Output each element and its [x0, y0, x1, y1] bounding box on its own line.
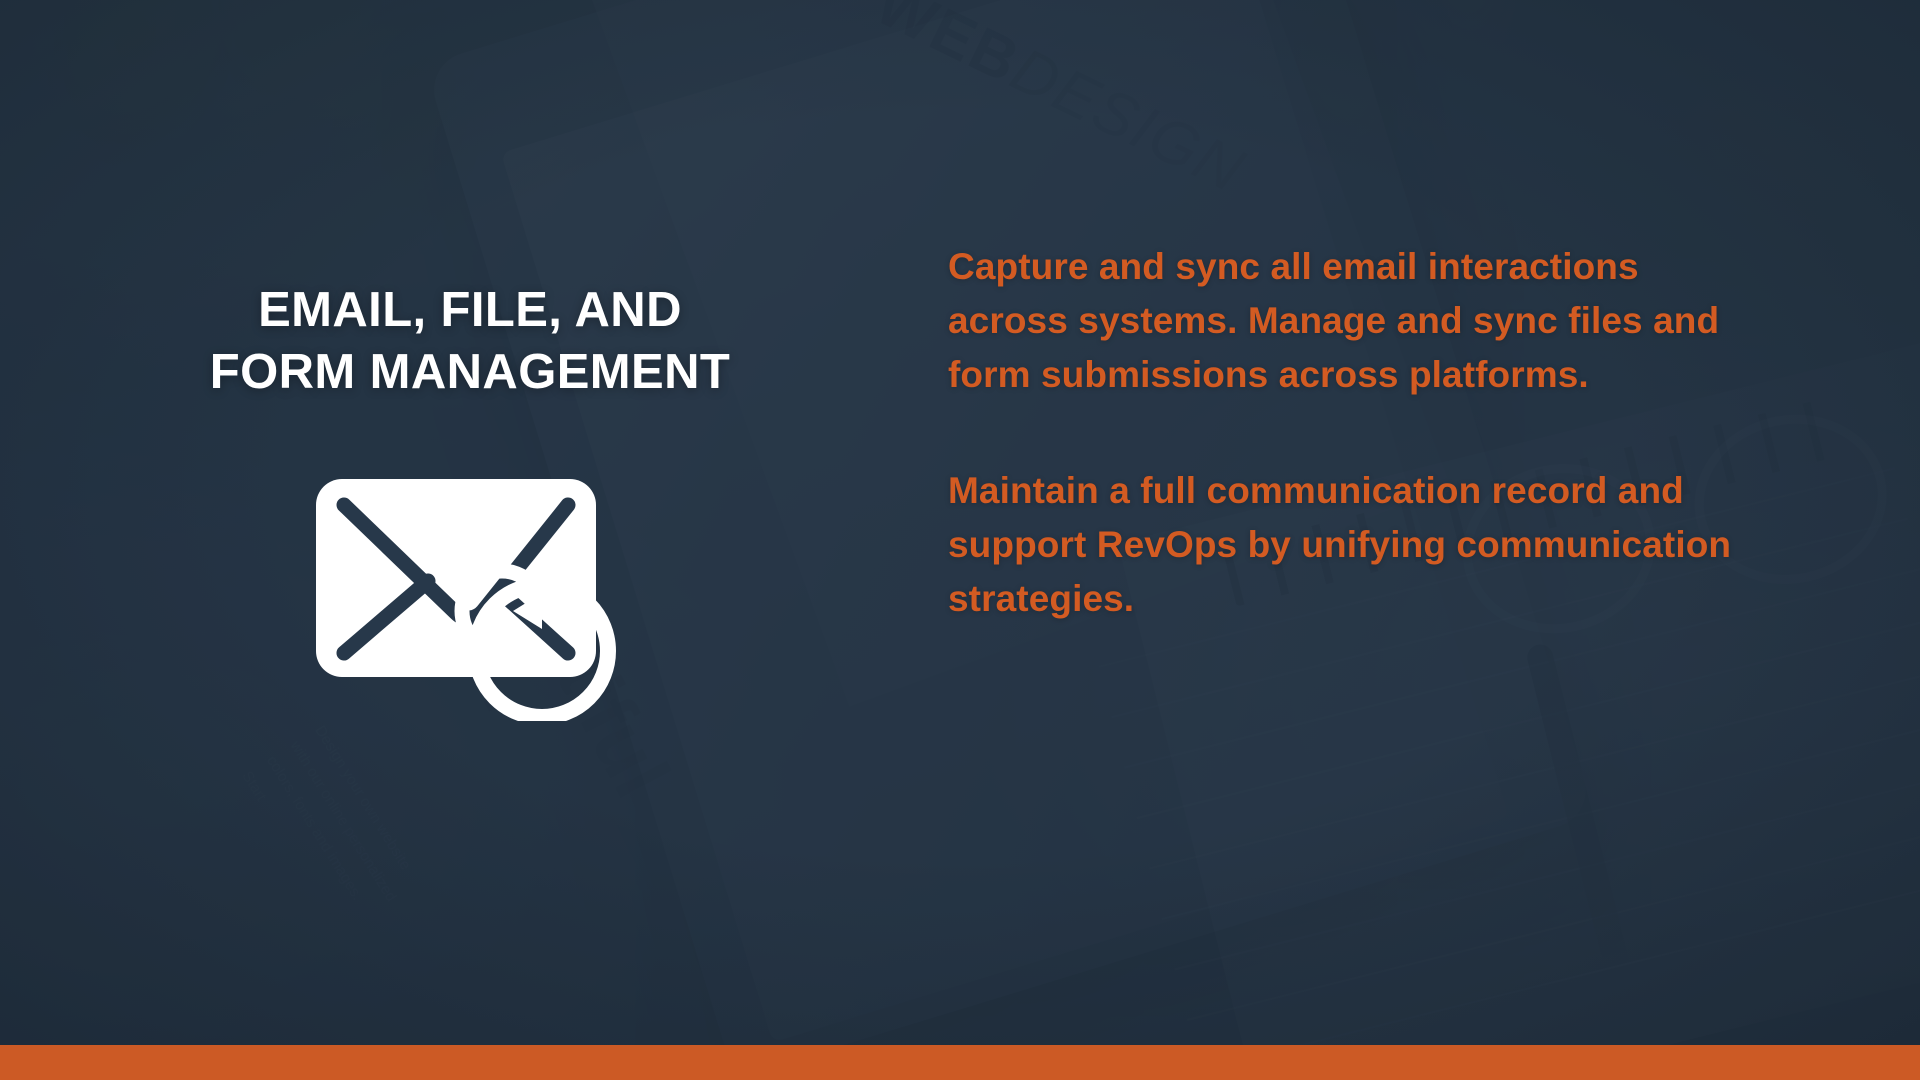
accent-bottom-bar: [0, 1045, 1920, 1080]
title-line-1: EMAIL, FILE, AND: [258, 283, 682, 337]
slide-content: EMAIL, FILE, AND FORM MANAGEMENT: [0, 0, 1920, 1080]
title-line-2: FORM MANAGEMENT: [210, 345, 730, 399]
left-column: EMAIL, FILE, AND FORM MANAGEMENT: [96, 280, 844, 721]
body-paragraph-1: Capture and sync all email interactions …: [948, 240, 1768, 402]
page-title: EMAIL, FILE, AND FORM MANAGEMENT: [96, 280, 844, 403]
right-column: Capture and sync all email interactions …: [948, 240, 1768, 626]
body-paragraph-2: Maintain a full communication record and…: [948, 464, 1768, 626]
email-sync-icon: [310, 465, 630, 721]
icon-container: [96, 465, 844, 721]
slide-root: WEBDESIGN Beautifulsites. Design your ow…: [0, 0, 1920, 1080]
